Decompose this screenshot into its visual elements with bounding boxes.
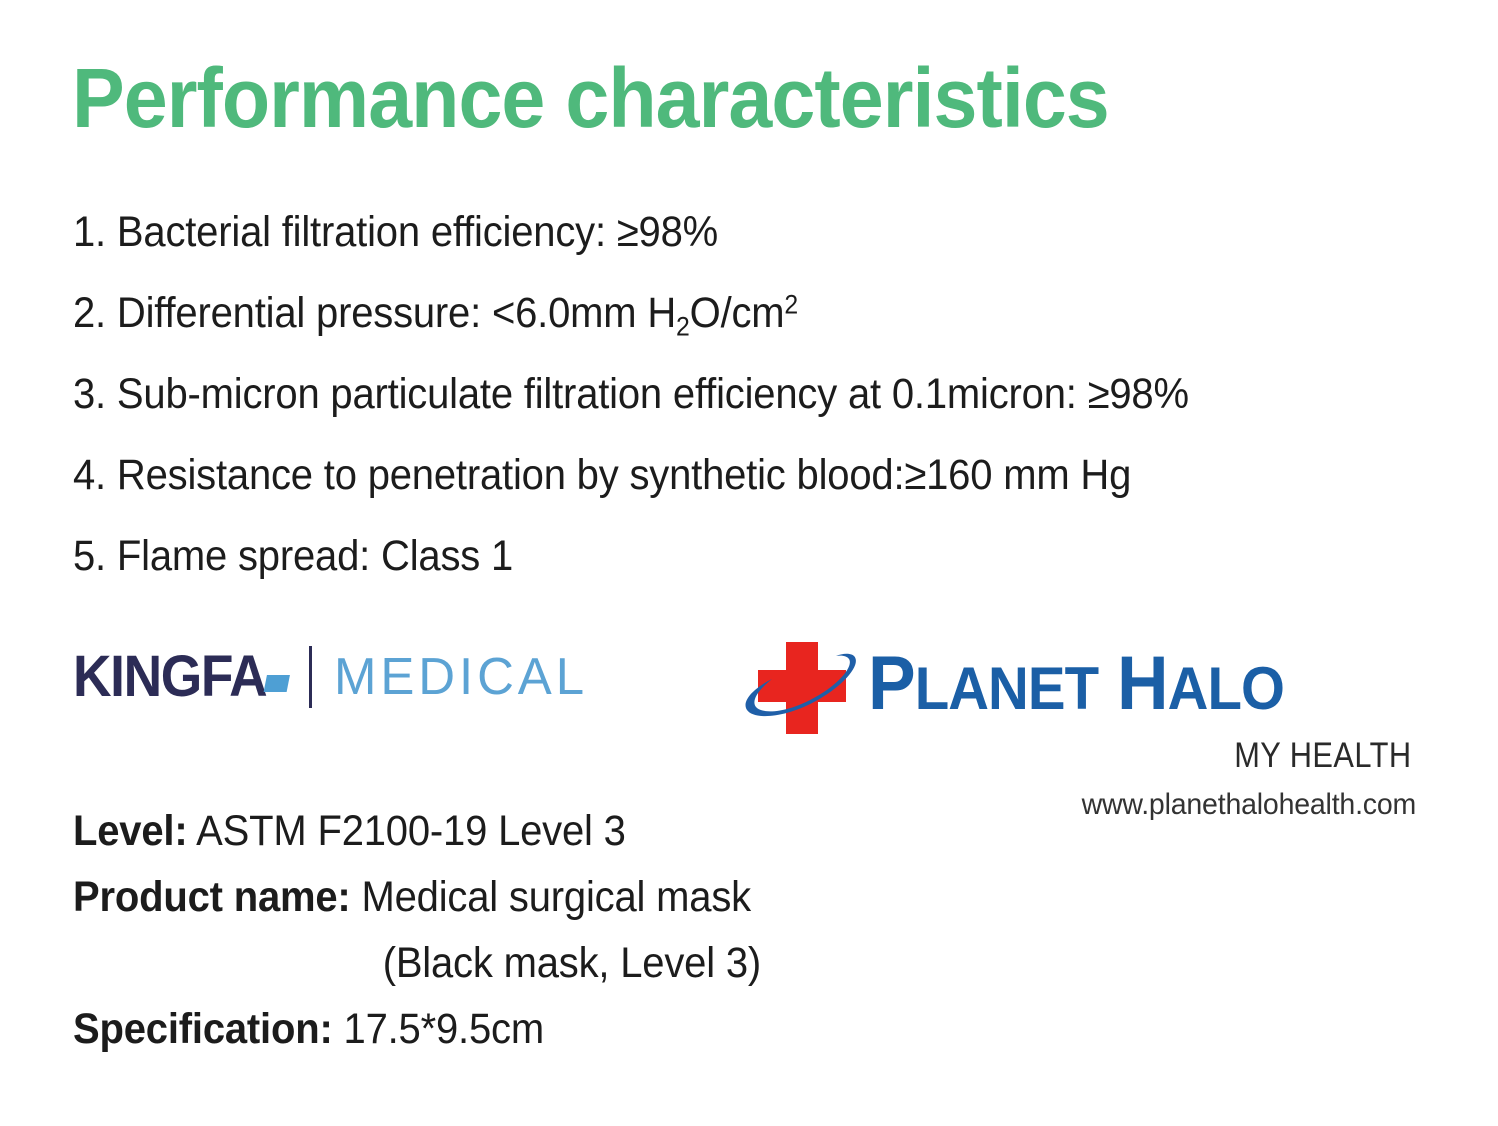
logo-row: KINGFA MEDICAL PLANET HALO MY HEALTH www… bbox=[0, 620, 1498, 820]
detail-product-name-value-line2: (Black mask, Level 3) bbox=[73, 930, 1189, 996]
detail-product-name-label: Product name: bbox=[73, 873, 351, 921]
kingfa-f-accent-icon bbox=[264, 675, 290, 692]
planet-halo-lanet: LANET bbox=[915, 655, 1098, 722]
spec-item-1: 1. Bacterial filtration efficiency: ≥98% bbox=[73, 192, 1356, 273]
detail-specification: Specification: 17.5*9.5cm bbox=[73, 996, 1189, 1062]
kingfa-divider-icon bbox=[309, 646, 312, 708]
spec-item-2-superscript: 2 bbox=[784, 290, 798, 320]
spec-item-2-text-a: 2. Differential pressure: <6.0mm H bbox=[73, 289, 676, 337]
spec-item-2-subscript: 2 bbox=[676, 312, 690, 342]
spec-item-5: 5. Flame spread: Class 1 bbox=[73, 516, 1356, 597]
product-details-block: Level: ASTM F2100-19 Level 3 Product nam… bbox=[73, 798, 1273, 1062]
kingfa-brand-text: KINGFA bbox=[73, 648, 266, 706]
kingfa-brand-label: KINGFA bbox=[73, 644, 266, 709]
detail-product-name-value-line2-text: (Black mask, Level 3) bbox=[383, 939, 761, 987]
kingfa-subbrand-label: MEDICAL bbox=[334, 651, 588, 703]
detail-specification-value: 17.5*9.5cm bbox=[344, 1005, 544, 1053]
spec-item-1-text: 1. Bacterial filtration efficiency: ≥98% bbox=[73, 208, 718, 256]
planet-halo-tagline: MY HEALTH bbox=[1235, 736, 1412, 776]
planet-halo-alo: ALO bbox=[1168, 655, 1284, 722]
spec-item-3-text: 3. Sub-micron particulate filtration eff… bbox=[73, 370, 1189, 418]
planet-halo-logo: PLANET HALO MY HEALTH www.planethaloheal… bbox=[742, 628, 1422, 818]
spec-item-4: 4. Resistance to penetration by syntheti… bbox=[73, 435, 1356, 516]
spec-item-4-text: 4. Resistance to penetration by syntheti… bbox=[73, 451, 1131, 499]
cross-orbit-svg bbox=[742, 634, 862, 742]
detail-level-label: Level: bbox=[73, 807, 187, 855]
detail-product-name-value: Medical surgical mask bbox=[361, 873, 750, 921]
spec-item-5-text: 5. Flame spread: Class 1 bbox=[73, 532, 513, 580]
planet-halo-h: H bbox=[1117, 641, 1168, 726]
page-title: Performance characteristics bbox=[72, 56, 1109, 140]
planet-halo-p: P bbox=[868, 641, 915, 726]
kingfa-medical-logo: KINGFA MEDICAL bbox=[73, 642, 593, 712]
spec-item-3: 3. Sub-micron particulate filtration eff… bbox=[73, 354, 1356, 435]
cross-orbit-icon bbox=[742, 634, 862, 742]
detail-level: Level: ASTM F2100-19 Level 3 bbox=[73, 798, 1189, 864]
detail-level-value: ASTM F2100-19 Level 3 bbox=[196, 807, 626, 855]
detail-product-name: Product name: Medical surgical mask bbox=[73, 864, 1189, 930]
performance-characteristics-card: Performance characteristics 1. Bacterial… bbox=[0, 0, 1498, 1126]
planet-halo-wordmark: PLANET HALO bbox=[868, 646, 1284, 722]
performance-spec-list: 1. Bacterial filtration efficiency: ≥98%… bbox=[73, 192, 1453, 597]
spec-item-2: 2. Differential pressure: <6.0mm H2O/cm2 bbox=[73, 273, 1356, 354]
spec-item-2-text-b: O/cm bbox=[690, 289, 785, 337]
detail-specification-label: Specification: bbox=[73, 1005, 333, 1053]
